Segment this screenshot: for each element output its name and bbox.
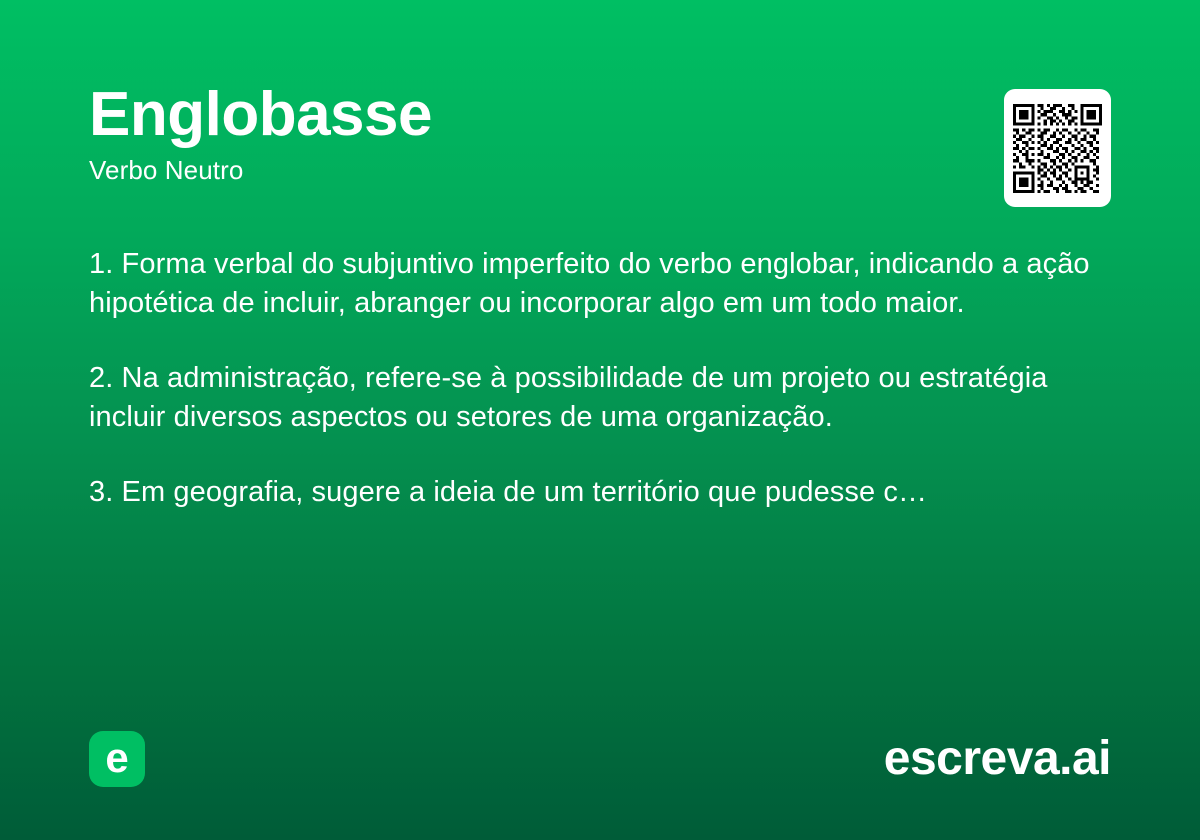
brand-logo-icon: e xyxy=(89,731,145,787)
qr-code-card[interactable] xyxy=(1004,89,1111,207)
qr-code-icon xyxy=(1013,104,1102,193)
page-title: Englobasse xyxy=(89,84,1111,146)
definitions-list: 1. Forma verbal do subjuntivo imperfeito… xyxy=(89,245,1101,512)
word-class-label: Verbo Neutro xyxy=(89,156,1111,185)
definition-card: Englobasse Verbo Neutro xyxy=(0,0,1200,840)
definition-item: 3. Em geografia, sugere a ideia de um te… xyxy=(89,473,1101,512)
brand-wordmark: escreva.ai xyxy=(884,735,1111,783)
definition-item: 2. Na administração, refere-se à possibi… xyxy=(89,359,1101,437)
card-header: Englobasse Verbo Neutro xyxy=(89,84,1111,185)
definition-item: 1. Forma verbal do subjuntivo imperfeito… xyxy=(89,245,1101,323)
brand-logo-letter: e xyxy=(105,737,128,779)
card-footer: e escreva.ai xyxy=(89,731,1111,787)
